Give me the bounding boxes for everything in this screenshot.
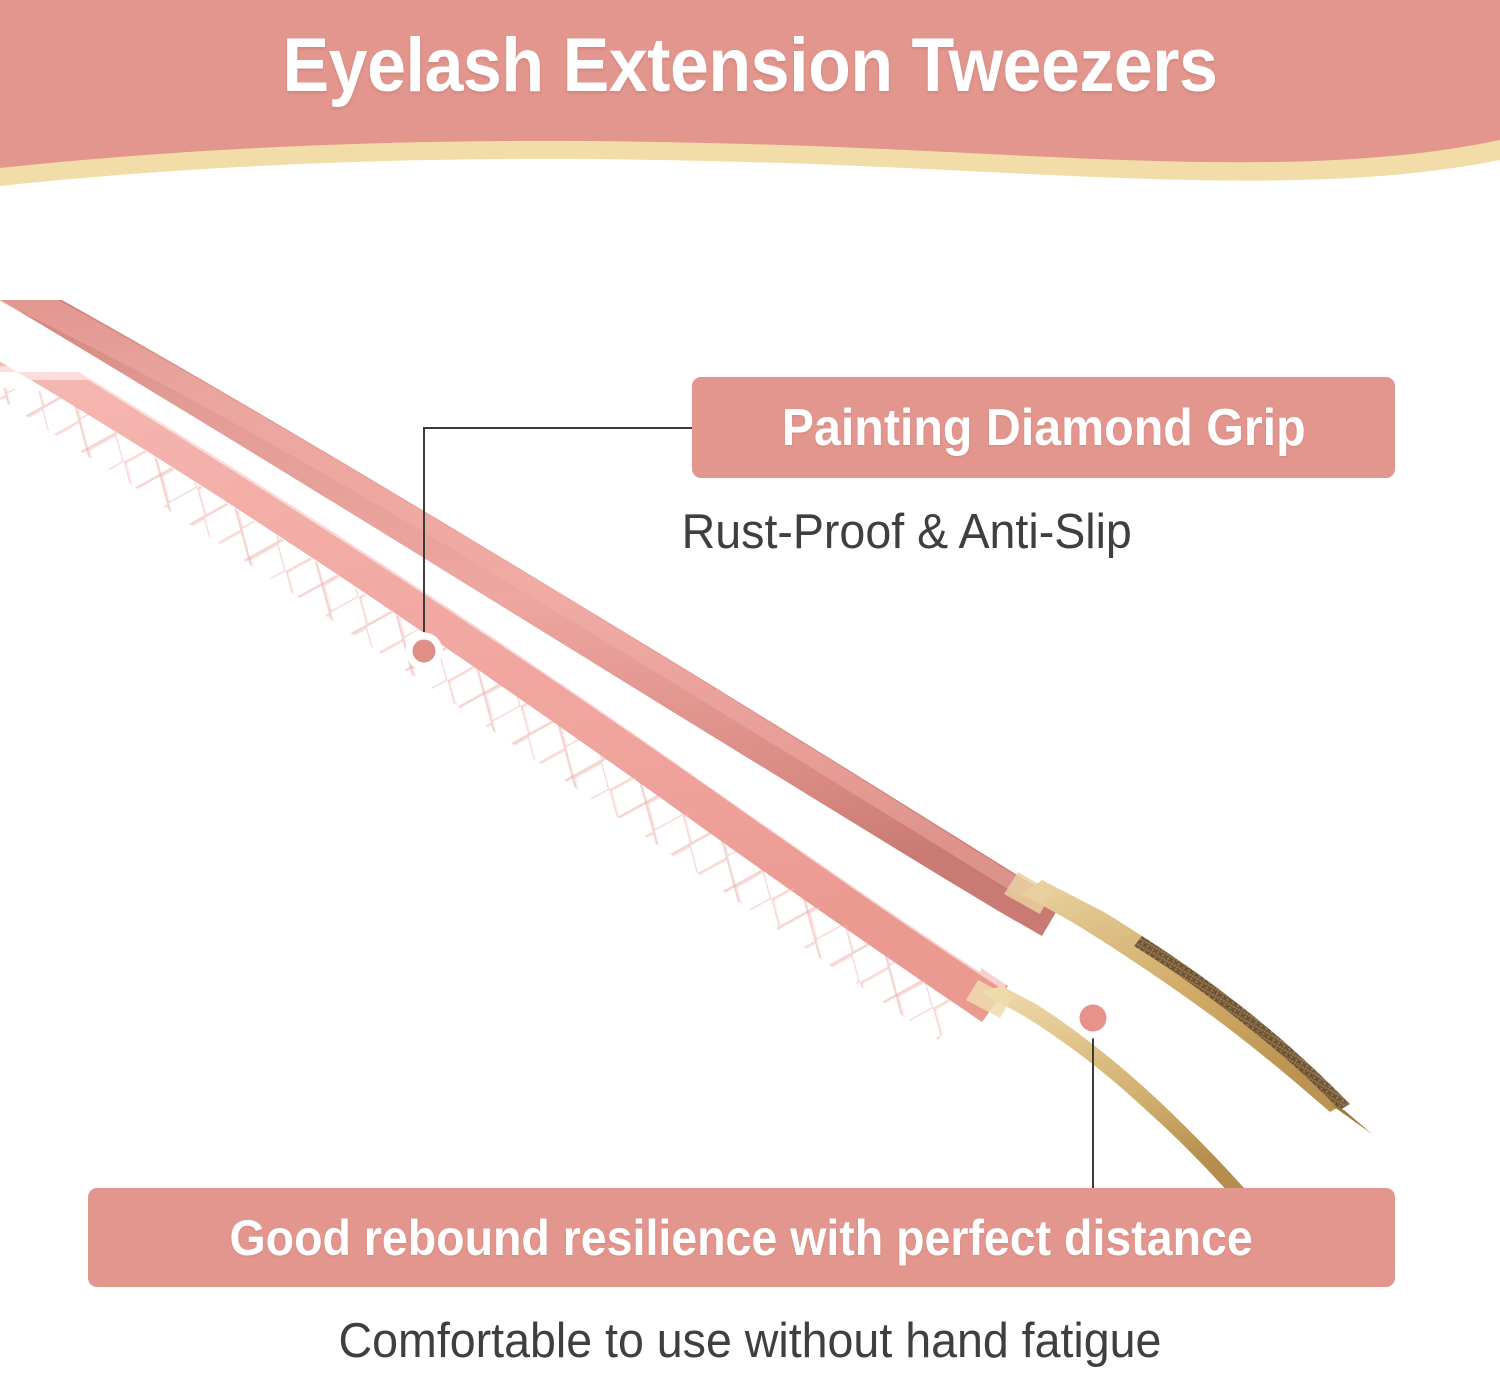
callout-subtitle-rebound: Comfortable to use without hand fatigue — [38, 1313, 1463, 1369]
callout-badge-rebound: Good rebound resilience with perfect dis… — [88, 1188, 1395, 1287]
callout-badge-grip: Painting Diamond Grip — [692, 377, 1395, 478]
callout-subtitle-grip: Rust-Proof & Anti-Slip — [38, 504, 1463, 560]
infographic-page: Eyelash Extension Tweezers Painting Diam… — [0, 0, 1500, 1379]
callout-badge-rebound-label: Good rebound resilience with perfect dis… — [230, 1209, 1253, 1267]
leader-lines-layer — [0, 0, 1500, 1379]
marker-grip-ring — [409, 636, 439, 666]
callout-badge-grip-label: Painting Diamond Grip — [782, 398, 1306, 458]
marker-rebound-dot — [1076, 1001, 1110, 1035]
